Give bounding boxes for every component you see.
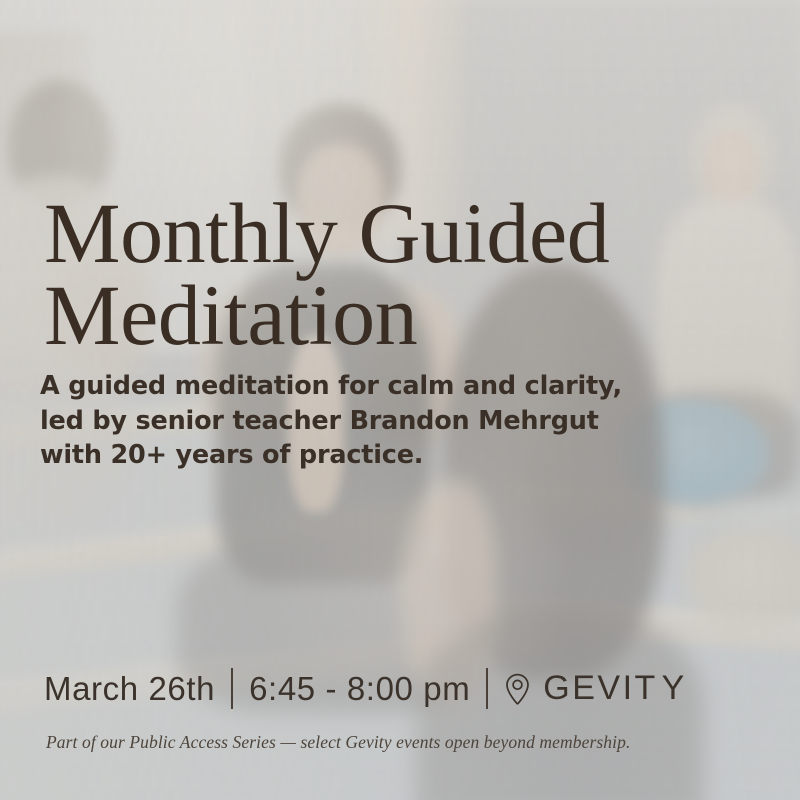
event-date: March 26th	[44, 670, 215, 708]
detail-separator	[231, 668, 233, 709]
brand-wordmark-last-letter: Y	[659, 669, 684, 708]
brand-wordmark: GEVITY	[543, 669, 684, 708]
event-time: 6:45 - 8:00 pm	[249, 670, 470, 708]
footnote: Part of our Public Access Series — selec…	[46, 732, 630, 753]
description-line-1: A guided meditation for calm and clarity…	[40, 369, 680, 404]
headline-line-2: Meditation	[44, 274, 684, 357]
poster-content: Monthly Guided Meditation A guided medit…	[0, 0, 800, 800]
detail-separator	[486, 668, 488, 709]
brand-wordmark-stem: GEVIT	[543, 669, 658, 708]
event-description: A guided meditation for calm and clarity…	[40, 369, 680, 473]
brand-lockup: GEVITY	[504, 669, 684, 708]
event-details-line: March 26th 6:45 - 8:00 pm GEVITY	[44, 668, 684, 709]
event-poster: Monthly Guided Meditation A guided medit…	[0, 0, 800, 800]
description-line-2: led by senior teacher Brandon Mehrgut	[40, 404, 680, 439]
description-line-3: with 20+ years of practice.	[40, 438, 680, 473]
page-title: Monthly Guided Meditation	[44, 192, 684, 357]
location-pin-icon	[504, 673, 531, 705]
